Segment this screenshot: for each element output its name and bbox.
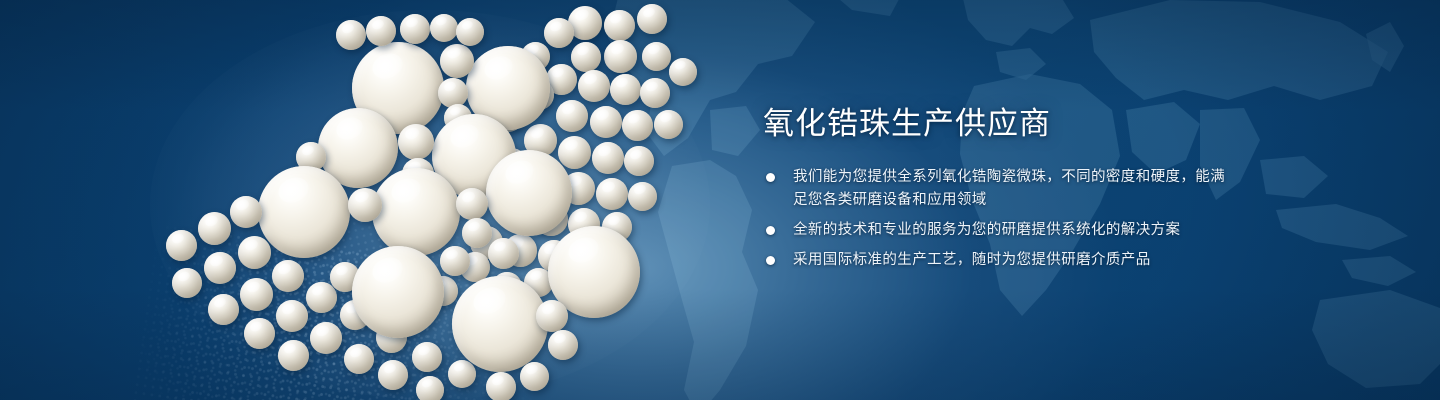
banner-copy: 氧化锆珠生产供应商 我们能为您提供全系列氧化锆陶瓷微珠，不同的密度和硬度，能满足… xyxy=(763,104,1233,272)
feature-list: 我们能为您提供全系列氧化锆陶瓷微珠，不同的密度和硬度，能满足您各类研磨设备和应用… xyxy=(763,166,1233,272)
bullet-point-icon xyxy=(766,256,775,265)
list-item: 全新的技术和专业的服务为您的研磨提供系统化的解决方案 xyxy=(763,219,1233,242)
list-item: 我们能为您提供全系列氧化锆陶瓷微珠，不同的密度和硬度，能满足您各类研磨设备和应用… xyxy=(763,166,1233,212)
list-item-text: 采用国际标准的生产工艺，随时为您提供研磨介质产品 xyxy=(793,252,1151,268)
hero-banner: 氧化锆珠生产供应商 我们能为您提供全系列氧化锆陶瓷微珠，不同的密度和硬度，能满足… xyxy=(0,0,1440,400)
list-item: 采用国际标准的生产工艺，随时为您提供研磨介质产品 xyxy=(763,249,1233,272)
bullet-point-icon xyxy=(766,226,775,235)
list-item-text: 全新的技术和专业的服务为您的研磨提供系统化的解决方案 xyxy=(793,222,1180,238)
list-item-text: 我们能为您提供全系列氧化锆陶瓷微珠，不同的密度和硬度，能满足您各类研磨设备和应用… xyxy=(793,169,1225,208)
bullet-point-icon xyxy=(766,173,775,182)
page-title: 氧化锆珠生产供应商 xyxy=(763,104,1233,144)
